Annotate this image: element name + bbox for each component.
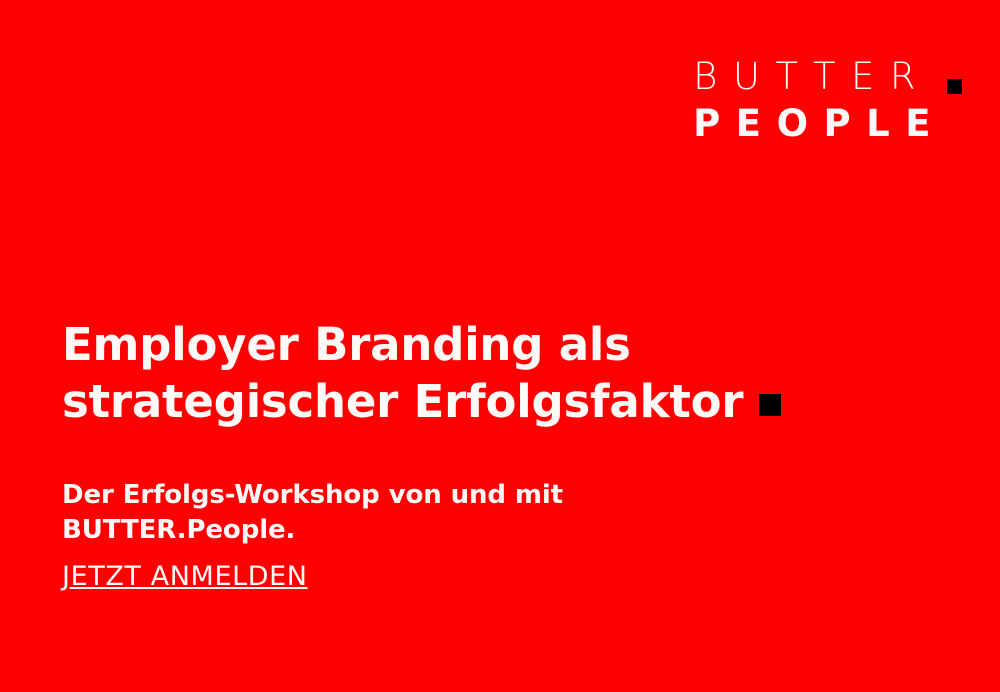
signup-cta-link[interactable]: JETZT ANMELDEN [62, 560, 308, 594]
brand-logo-dot-icon [947, 79, 962, 94]
headline-square-icon [759, 394, 781, 416]
brand-logo-people: PEOPLE [693, 105, 948, 142]
subtitle: Der Erfolgs-Workshop von und mit BUTTER.… [62, 478, 762, 548]
brand-logo[interactable]: BUTTER PEOPLE [693, 58, 948, 142]
subtitle-line-2: BUTTER.People. [62, 513, 762, 548]
promo-banner: BUTTER PEOPLE Employer Branding als stra… [0, 0, 1000, 692]
headline-line-2-text: strategischer Erfolgsfaktor [62, 375, 743, 428]
headline-line-2: strategischer Erfolgsfaktor [62, 373, 762, 430]
headline-line-1: Employer Branding als [62, 316, 762, 373]
brand-logo-butter: BUTTER [693, 58, 948, 95]
brand-logo-butter-text: BUTTER [693, 55, 931, 98]
page-title: Employer Branding als strategischer Erfo… [62, 316, 762, 430]
subtitle-line-1: Der Erfolgs-Workshop von und mit [62, 478, 762, 513]
